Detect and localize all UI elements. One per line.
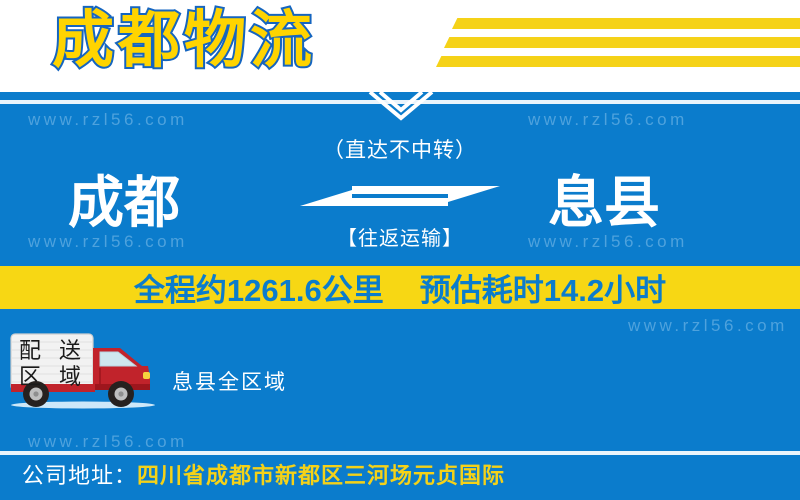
direct-note: （直达不中转） <box>270 138 530 164</box>
address-label: 公司地址： <box>22 463 137 488</box>
poster-canvas: 成都物流 www.rzl56.com www.rzl56.com www.rzl… <box>0 0 800 500</box>
stripe-1 <box>452 18 800 29</box>
company-address: 公司地址：四川省成都市新都区三河场元贞国际 <box>22 461 505 491</box>
address-value: 四川省成都市新都区三河场元贞国际 <box>137 463 505 488</box>
watermark: www.rzl56.com <box>28 432 188 452</box>
bidirectional-arrow-icon <box>300 172 500 220</box>
distance-value: 全程约1261.6公里 <box>134 265 384 310</box>
metrics-band: 全程约1261.6公里 预估耗时14.2小时 <box>0 266 800 309</box>
page-title: 成都物流 <box>52 5 316 77</box>
roundtrip-note: 【往返运输】 <box>270 227 530 251</box>
route-middle-block: （直达不中转） 【往返运输】 <box>270 138 530 258</box>
watermark: www.rzl56.com <box>28 110 188 130</box>
chevron-down-icon <box>366 88 436 124</box>
stripe-2 <box>444 37 800 48</box>
delivery-truck-icon: 配 送 区 域 <box>8 332 158 410</box>
truck-badge-char-4: 域 <box>59 364 81 389</box>
duration-value: 预估耗时14.2小时 <box>420 265 666 310</box>
watermark: www.rzl56.com <box>628 316 788 336</box>
truck-badge-char-3: 区 <box>19 364 41 389</box>
header-banner: 成都物流 <box>0 0 800 92</box>
origin-city: 成都 <box>68 168 180 238</box>
stripe-3 <box>436 56 800 67</box>
destination-city: 息县 <box>548 168 660 238</box>
footer-divider-line <box>0 451 800 455</box>
truck-badge-char-1: 配 <box>19 338 41 363</box>
truck-badge-char-2: 送 <box>59 338 81 363</box>
decorative-stripes <box>400 0 800 92</box>
delivery-area-label: 息县全区域 <box>172 366 287 396</box>
watermark: www.rzl56.com <box>528 110 688 130</box>
